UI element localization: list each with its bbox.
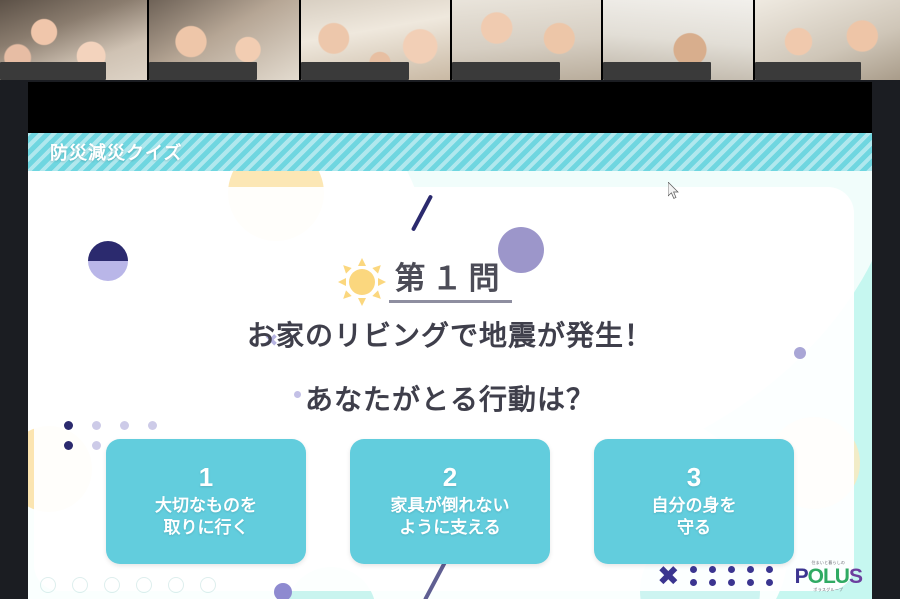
participant-name-label-4: [452, 62, 560, 80]
polus-logo: 住まいと暮らしの POLUS ポラスグループ: [795, 561, 862, 592]
polus-tagline-bottom: ポラスグループ: [795, 588, 862, 592]
presentation-slide: 防災減災クイズ ✖: [28, 133, 872, 599]
faded-toolbar-watermark: [40, 577, 216, 593]
participant-tile-6[interactable]: [755, 0, 900, 80]
answer-option-3-number: 3: [687, 464, 701, 491]
question-number-text: 第１問: [389, 261, 512, 303]
slide-body: ✖ 第１問 お家のリビングで地震が発生！ あなたがとる行動は？: [28, 171, 872, 599]
polus-letter-p: P: [795, 565, 808, 588]
participant-tile-4[interactable]: [452, 0, 601, 80]
answer-option-2-number: 2: [443, 464, 457, 491]
answer-option-1-line2: 取りに行く: [164, 517, 249, 539]
participant-name-label-3: [301, 62, 409, 80]
participant-name-label-2: [149, 62, 257, 80]
question-line-1: お家のリビングで地震が発生！: [28, 314, 872, 354]
question-number: 第１問: [28, 253, 872, 298]
answer-option-2[interactable]: 2 家具が倒れない ように支える: [350, 439, 550, 564]
answer-option-3-line2: 守る: [677, 517, 711, 539]
answer-option-3[interactable]: 3 自分の身を 守る: [594, 439, 794, 564]
answer-option-1[interactable]: 1 大切なものを 取りに行く: [106, 439, 306, 564]
participant-tile-1[interactable]: [0, 0, 147, 80]
polus-letters-lu: LU: [823, 565, 849, 588]
logo-x-icon: ✖: [657, 563, 680, 590]
zoom-meeting-screen: 防災減災クイズ ✖: [0, 0, 900, 599]
slide-header-banner: 防災減災クイズ: [28, 133, 872, 171]
slide-banner-title: 防災減災クイズ: [50, 139, 182, 165]
answer-option-3-line1: 自分の身を: [652, 495, 737, 517]
polus-letter-o: O: [808, 565, 823, 588]
answer-option-2-line1: 家具が倒れない: [391, 495, 510, 517]
brand-logo: ✖ 住まいと暮らしの POLUS ポラスグループ: [657, 557, 862, 595]
question-line-2: あなたがとる行動は？: [28, 378, 872, 418]
participant-name-label-5: [603, 62, 711, 80]
participant-name-label-6: [755, 62, 861, 80]
participant-tile-5[interactable]: [603, 0, 752, 80]
participant-tile-2[interactable]: [149, 0, 298, 80]
answer-options: 1 大切なものを 取りに行く 2 家具が倒れない ように支える 3 自分の身を …: [28, 439, 872, 564]
polus-wordmark: POLUS: [795, 566, 862, 587]
answer-option-1-line1: 大切なものを: [155, 495, 257, 517]
shared-screen-letterbox: [28, 82, 872, 133]
answer-option-2-line2: ように支える: [399, 517, 501, 539]
participant-tile-3[interactable]: [301, 0, 450, 80]
participant-name-label-1: [0, 62, 106, 80]
logo-dot-grid: [690, 563, 785, 589]
polus-letter-s: S: [849, 565, 862, 588]
participant-filmstrip: [0, 0, 900, 80]
mouse-cursor: [668, 182, 680, 200]
answer-option-1-number: 1: [199, 464, 213, 491]
decorative-dot: [274, 583, 292, 599]
